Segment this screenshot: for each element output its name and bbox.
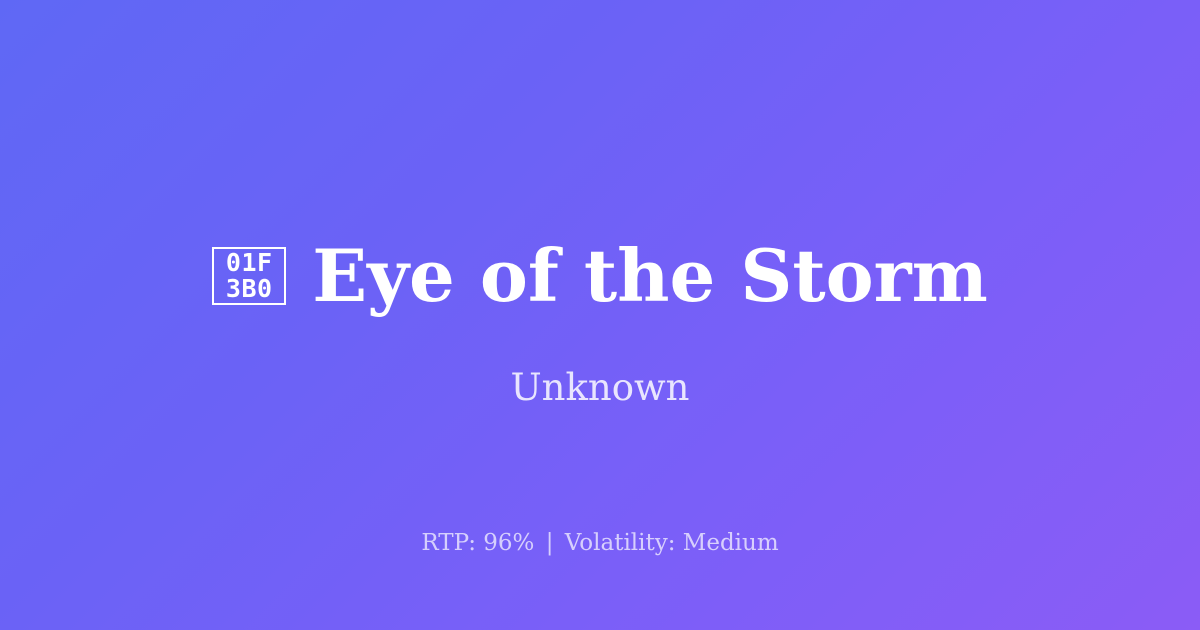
tofu-hex-bottom: 3B0 [226, 276, 273, 302]
volatility-stat: Volatility: Medium [565, 530, 779, 556]
page-title: Eye of the Storm [312, 236, 988, 316]
tofu-hex-top: 01F [226, 250, 273, 276]
provider-label: Unknown [0, 366, 1200, 410]
game-stats: RTP: 96% | Volatility: Medium [0, 528, 1200, 558]
stats-separator: | [542, 530, 558, 556]
rtp-stat: RTP: 96% [421, 530, 534, 556]
title-row: 01F 3B0 Eye of the Storm [0, 232, 1200, 320]
slot-machine-emoji-tofu-icon: 01F 3B0 [212, 247, 286, 305]
game-og-card: 01F 3B0 Eye of the Storm Unknown RTP: 96… [0, 0, 1200, 630]
